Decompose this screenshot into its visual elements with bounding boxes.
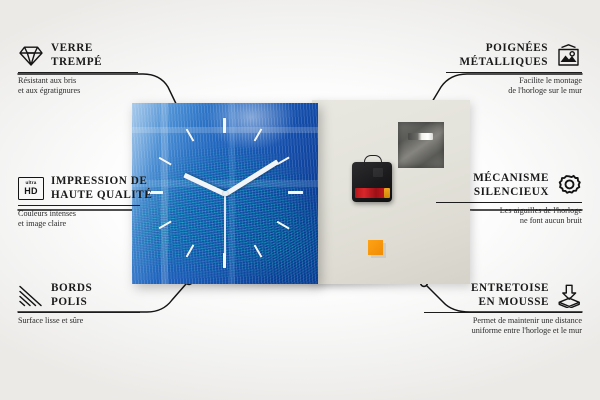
polished-edges-icon — [18, 285, 44, 307]
feature-bords-polis[interactable]: BORDS POLIS Surface lisse et sûre — [18, 282, 146, 326]
foam-spacer — [368, 240, 383, 255]
feature-entretoise-en-mousse[interactable]: ENTRETOISE EN MOUSSE Permet de maintenir… — [424, 282, 582, 336]
diamond-icon — [18, 45, 44, 67]
foam-spacer-icon — [556, 284, 582, 308]
feature-title-line2: HAUTE QUALITÉ — [51, 189, 152, 203]
feature-title-line1: MÉCANISME — [473, 172, 549, 186]
feature-divider — [436, 202, 582, 203]
picture-hanger-icon — [555, 44, 582, 68]
feature-title-line2: TREMPÉ — [51, 56, 102, 70]
feature-title-line2: POLIS — [51, 296, 92, 310]
feature-subtitle: Surface lisse et sûre — [18, 316, 146, 326]
infographic-canvas: VERRE TREMPÉ Résistant aux bris et aux é… — [0, 0, 600, 400]
feature-subtitle: Facilite le montage de l'horloge sur le … — [446, 76, 582, 96]
feature-title-line1: IMPRESSION DE — [51, 175, 152, 189]
feature-title-line2: EN MOUSSE — [471, 296, 549, 310]
product-image — [132, 100, 470, 284]
glass-clock-face — [132, 103, 318, 284]
feature-title-line1: BORDS — [51, 282, 92, 296]
feature-title-line1: ENTRETOISE — [471, 282, 549, 296]
feature-divider — [18, 72, 138, 73]
feature-title-line2: SILENCIEUX — [473, 186, 549, 200]
feature-divider — [18, 205, 140, 206]
feature-subtitle: Permet de maintenir une distance uniform… — [424, 316, 582, 336]
feature-mecanisme-silencieux[interactable]: MÉCANISME SILENCIEUX Les aiguilles de l'… — [436, 172, 582, 226]
feature-impression-haute-qualite[interactable]: ultra HD IMPRESSION DE HAUTE QUALITÉ Cou… — [18, 175, 146, 229]
feature-title-line2: MÉTALLIQUES — [459, 56, 548, 70]
gear-icon — [556, 174, 582, 198]
ultra-hd-badge-icon: ultra HD — [18, 177, 44, 200]
feature-poignees-metalliques[interactable]: POIGNÉES MÉTALLIQUES Facilite le montage… — [446, 42, 582, 96]
feature-title-line1: VERRE — [51, 42, 102, 56]
quartz-mechanism — [352, 162, 392, 202]
feature-divider — [424, 312, 582, 313]
feature-title-line1: POIGNÉES — [459, 42, 548, 56]
metal-hanger — [398, 122, 444, 168]
feature-divider — [446, 72, 582, 73]
feature-subtitle: Couleurs intenses et image claire — [18, 209, 146, 229]
feature-subtitle: Les aiguilles de l'horloge ne font aucun… — [436, 206, 582, 226]
feature-divider — [18, 312, 140, 313]
feature-subtitle: Résistant aux bris et aux égratignures — [18, 76, 146, 96]
feature-verre-trempe[interactable]: VERRE TREMPÉ Résistant aux bris et aux é… — [18, 42, 146, 96]
